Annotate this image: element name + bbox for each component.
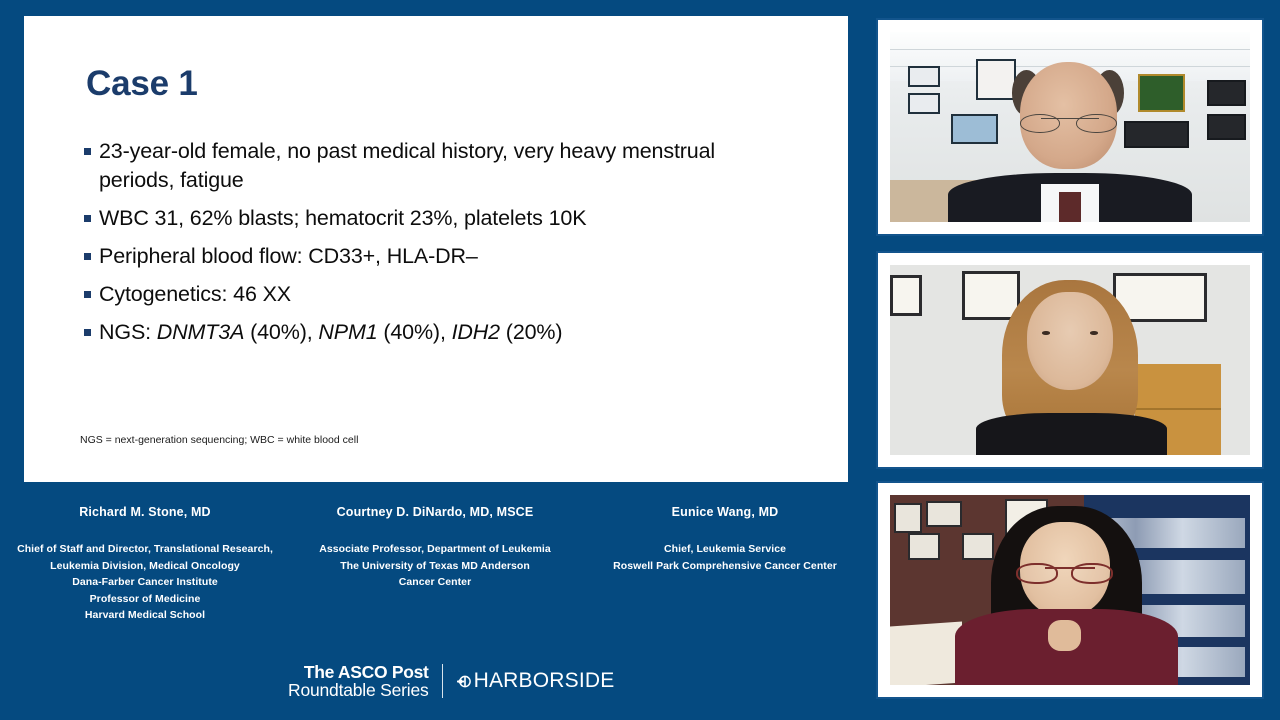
presenter-name: Richard M. Stone, MD	[6, 505, 284, 519]
eyeglass-bridge	[1041, 118, 1099, 120]
asco-post-logo: The ASCO Post Roundtable Series	[288, 663, 429, 699]
video-tile-participant-2[interactable]	[876, 251, 1264, 469]
brand-logo-lockup: The ASCO Post Roundtable Series HARBORSI…	[288, 658, 563, 704]
bullet-text-segment: (40%),	[378, 320, 452, 344]
bullet-text-segment: 23-year-old female, no past medical hist…	[99, 139, 715, 192]
bullet-item: WBC 31, 62% blasts; hematocrit 23%, plat…	[84, 204, 744, 233]
bullet-text-segment: WBC 31, 62% blasts; hematocrit 23%, plat…	[99, 206, 586, 230]
presenter-name: Courtney D. DiNardo, MD, MSCE	[296, 505, 574, 519]
slide-title: Case 1	[86, 64, 198, 104]
presenter-credentials-bar: Richard M. Stone, MDChief of Staff and D…	[0, 505, 870, 645]
presenter-block: Courtney D. DiNardo, MD, MSCEAssociate P…	[290, 505, 580, 645]
webinar-screen: Case 1 23-year-old female, no past medic…	[0, 0, 1280, 720]
presenter-affiliation-line: Harvard Medical School	[6, 607, 284, 624]
slide-bullet-list: 23-year-old female, no past medical hist…	[84, 137, 744, 356]
gene-name: NPM1	[318, 320, 377, 344]
wall-frame-dark	[1124, 121, 1189, 148]
video-feed-courtney-dinardo	[890, 265, 1250, 455]
wall-frame-gold	[1138, 74, 1185, 112]
bullet-text-segment: Cytogenetics: 46 XX	[99, 282, 291, 306]
logo-divider	[442, 664, 443, 698]
harborside-logo: HARBORSIDE	[456, 669, 615, 693]
presenter-affiliation-line: Leukemia Division, Medical Oncology	[6, 558, 284, 575]
harborside-mark-icon	[456, 673, 473, 690]
papers-on-desk	[890, 622, 962, 685]
presentation-slide: Case 1 23-year-old female, no past medic…	[24, 16, 848, 482]
video-tile-participant-1[interactable]	[876, 18, 1264, 236]
bullet-text: WBC 31, 62% blasts; hematocrit 23%, plat…	[99, 204, 586, 233]
eyeglass-bridge	[1045, 567, 1095, 569]
presenter-name: Eunice Wang, MD	[586, 505, 864, 519]
presenter-block: Eunice Wang, MDChief, Leukemia ServiceRo…	[580, 505, 870, 645]
wall-certificate	[908, 533, 940, 560]
wall-frame-dark	[1207, 114, 1247, 141]
wall-certificate	[962, 533, 994, 560]
bullet-item: Peripheral blood flow: CD33+, HLA-DR–	[84, 242, 744, 271]
presenter-affiliation-line: Associate Professor, Department of Leuke…	[296, 541, 574, 558]
necktie	[1059, 192, 1081, 222]
presenter-affiliation-line: Cancer Center	[296, 574, 574, 591]
bullet-square-icon	[84, 253, 91, 260]
bullet-text: NGS: DNMT3A (40%), NPM1 (40%), IDH2 (20%…	[99, 318, 562, 347]
gene-name: IDH2	[452, 320, 500, 344]
bullet-square-icon	[84, 329, 91, 336]
eye	[1042, 331, 1050, 334]
video-tile-participant-3[interactable]	[876, 481, 1264, 699]
bullet-square-icon	[84, 291, 91, 298]
wall-certificate	[926, 501, 962, 528]
presenter-affiliation-line: The University of Texas MD Anderson	[296, 558, 574, 575]
bullet-text: Cytogenetics: 46 XX	[99, 280, 291, 309]
presenter-affiliation-line: Chief, Leukemia Service	[586, 541, 864, 558]
bullet-square-icon	[84, 215, 91, 222]
bullet-item: NGS: DNMT3A (40%), NPM1 (40%), IDH2 (20%…	[84, 318, 744, 347]
diploma-frame	[962, 271, 1020, 320]
bullet-text-segment: (40%),	[244, 320, 318, 344]
face	[1027, 292, 1113, 391]
neckline	[1048, 620, 1080, 650]
slide-footnote: NGS = next-generation sequencing; WBC = …	[80, 434, 358, 446]
presenter-affiliation-line: Chief of Staff and Director, Translation…	[6, 541, 284, 558]
diploma-frame	[890, 275, 922, 317]
presenter-block: Richard M. Stone, MDChief of Staff and D…	[0, 505, 290, 645]
wall-frame-dark	[1207, 80, 1247, 107]
bullet-item: Cytogenetics: 46 XX	[84, 280, 744, 309]
wall-frame	[908, 66, 940, 87]
bullet-square-icon	[84, 148, 91, 155]
gene-name: DNMT3A	[157, 320, 245, 344]
eye	[1090, 331, 1098, 334]
bullet-text: Peripheral blood flow: CD33+, HLA-DR–	[99, 242, 478, 271]
video-feed-richard-stone	[890, 32, 1250, 222]
harborside-logo-text: HARBORSIDE	[474, 669, 615, 693]
asco-post-logo-line2: Roundtable Series	[288, 681, 429, 699]
bullet-item: 23-year-old female, no past medical hist…	[84, 137, 744, 195]
wall-poster	[976, 59, 1016, 101]
presenter-affiliation-line: Dana-Farber Cancer Institute	[6, 574, 284, 591]
video-feed-eunice-wang	[890, 495, 1250, 685]
wall-certificate	[894, 503, 923, 533]
bullet-text: 23-year-old female, no past medical hist…	[99, 137, 744, 195]
asco-post-logo-line1: The ASCO Post	[288, 663, 429, 681]
bullet-text-segment: (20%)	[500, 320, 562, 344]
dark-top	[976, 413, 1167, 455]
wall-frame	[908, 93, 940, 114]
presenter-affiliation-line: Professor of Medicine	[6, 591, 284, 608]
presenter-affiliation-line: Roswell Park Comprehensive Cancer Center	[586, 558, 864, 575]
wall-frame	[951, 114, 998, 144]
bullet-text-segment: NGS:	[99, 320, 157, 344]
bullet-text-segment: Peripheral blood flow: CD33+, HLA-DR–	[99, 244, 478, 268]
